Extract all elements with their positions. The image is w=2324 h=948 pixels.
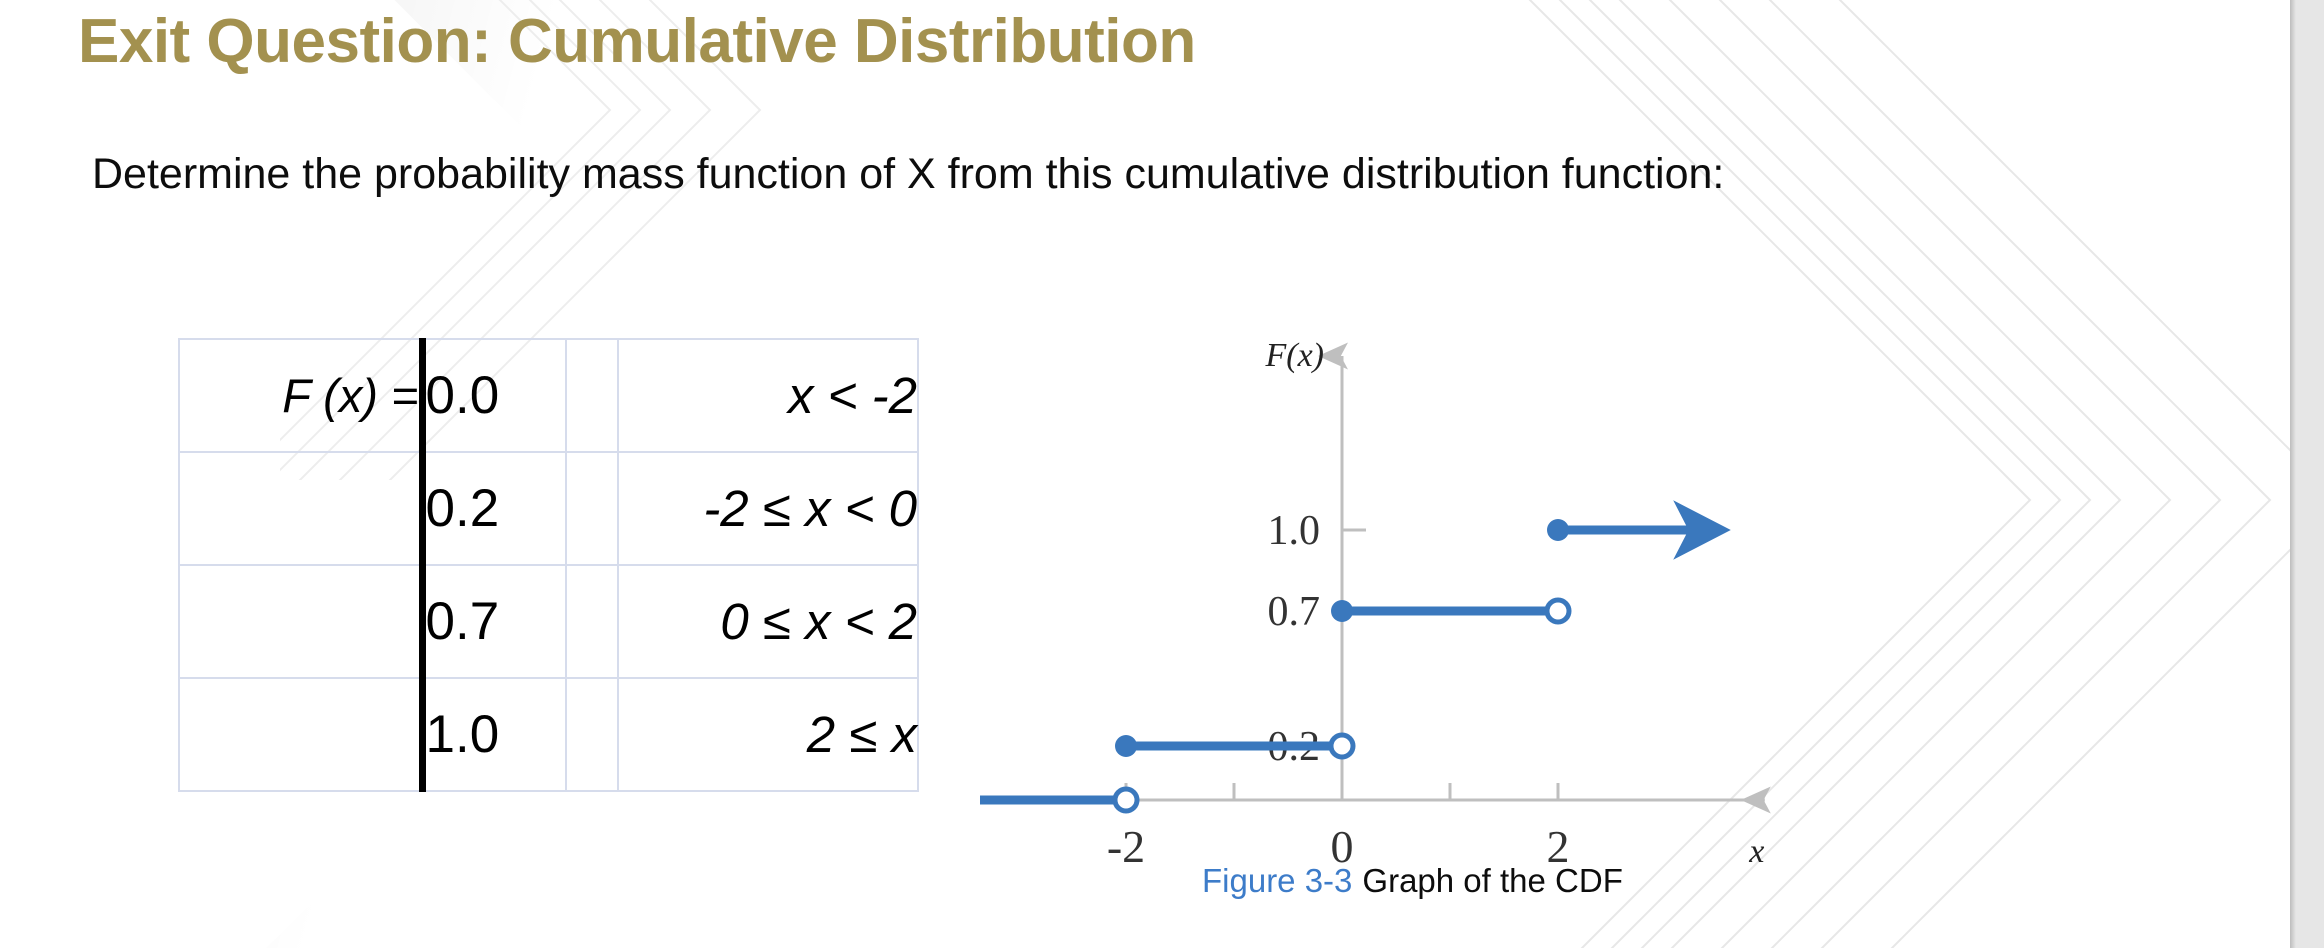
table-row: 0.2 -2 ≤ x < 0 [179,452,918,565]
condition-cell: 0 ≤ x < 2 [618,565,918,678]
cdf-step-chart: -202 0.20.71.0 F(x) x [980,318,1990,928]
cdf-piecewise-table: F (x) = 0.0 x < -2 0.2 -2 ≤ x < 0 0.7 0 … [178,338,919,792]
open-endpoint-marker [1331,735,1353,757]
figure-caption: Figure 3-3Graph of the CDF [1202,862,1623,900]
spacer-cell [566,452,618,565]
x-tick-label: -2 [1107,821,1145,872]
spacer-cell [566,565,618,678]
right-gutter [2296,0,2324,948]
closed-endpoint-marker [1115,735,1137,757]
closed-endpoint-marker [1547,519,1569,541]
figure-caption-text: Graph of the CDF [1362,862,1622,899]
y-tick-labels: 0.20.71.0 [1268,508,1321,770]
table-row: 1.0 2 ≤ x [179,678,918,791]
chart-axes [980,356,1765,800]
open-endpoint-marker [1547,600,1569,622]
function-label: F (x) = [282,369,418,422]
table-row: F (x) = 0.0 x < -2 [179,339,918,452]
page-title: Exit Question: Cumulative Distribution [78,6,1196,77]
y-tick-label: 1.0 [1268,508,1321,554]
table-row: 0.7 0 ≤ x < 2 [179,565,918,678]
condition-cell: 2 ≤ x [618,678,918,791]
condition-cell: -2 ≤ x < 0 [618,452,918,565]
empty-label-cell [179,565,422,678]
slide-canvas: Exit Question: Cumulative Distribution D… [0,0,2290,948]
empty-label-cell [179,452,422,565]
cdf-chart-svg: -202 0.20.71.0 F(x) x [980,318,1990,928]
step-segments [980,530,1720,800]
open-endpoint-marker [1115,789,1137,811]
figure-number: Figure 3-3 [1202,862,1352,899]
value-cell: 0.2 [422,452,566,565]
closed-endpoint-marker [1331,600,1353,622]
function-label-cell: F (x) = [179,339,422,452]
prompt-text: Determine the probability mass function … [92,150,1724,199]
empty-label-cell [179,678,422,791]
value-cell: 0.0 [422,339,566,452]
spacer-cell [566,339,618,452]
x-axis-title: x [1748,833,1764,870]
value-cell: 1.0 [422,678,566,791]
y-tick-label: 0.7 [1268,589,1321,635]
y-axis-title: F(x) [1264,337,1324,374]
spacer-cell [566,678,618,791]
value-cell: 0.7 [422,565,566,678]
condition-cell: x < -2 [618,339,918,452]
